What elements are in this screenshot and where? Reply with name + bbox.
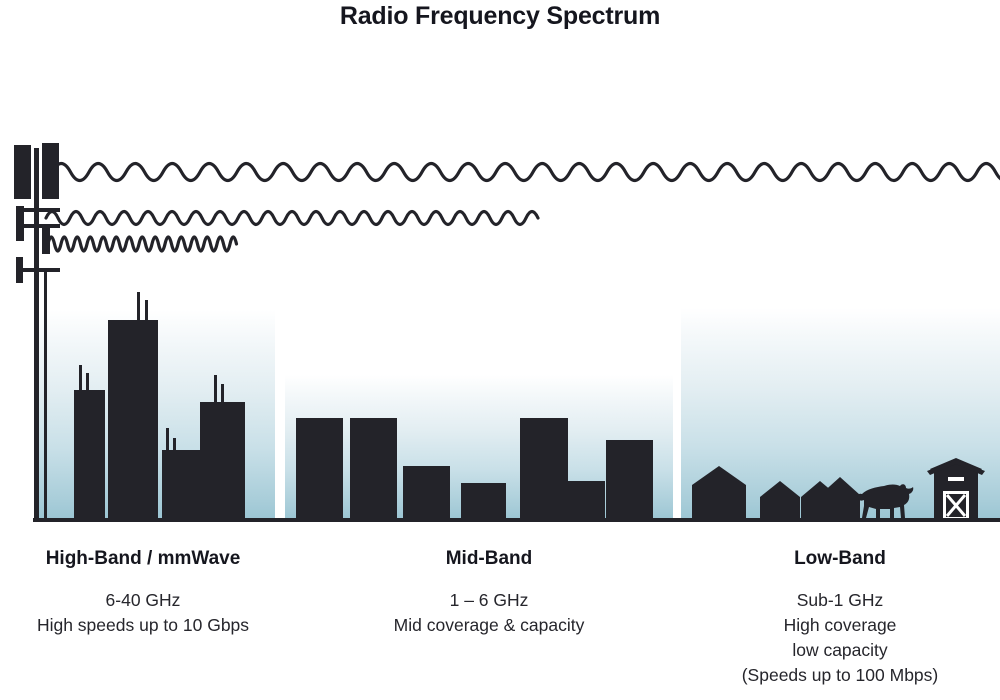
long-wavelength-wave [52, 152, 1000, 194]
low-band-line-3: low capacity [703, 638, 977, 663]
barn-icon [924, 458, 988, 527]
house-4-roof [820, 477, 860, 495]
mid-block-7 [606, 440, 653, 520]
mid-block-6 [568, 481, 605, 520]
low-band-line-4: (Speeds up to 100 Mbps) [703, 663, 977, 688]
tower-b-spire-2 [145, 300, 148, 322]
antenna-panel-left-lower [16, 257, 23, 283]
tower-a-body [74, 390, 105, 520]
mid-band-line-2: Mid coverage & capacity [352, 613, 626, 638]
tower-mast-secondary [44, 268, 47, 520]
house-2-roof [760, 481, 800, 497]
mid-band-heading: Mid-Band [352, 548, 626, 570]
antenna-panel-left-mid [16, 206, 24, 241]
house-1-roof [692, 466, 746, 485]
tower-c-body [162, 450, 200, 520]
caption-mid-band: Mid-Band 1 – 6 GHz Mid coverage & capaci… [352, 548, 626, 638]
house-2-body [760, 497, 800, 520]
tower-c-spire-1 [166, 428, 169, 452]
house-1-body [692, 485, 746, 520]
tower-d-spire-1 [214, 375, 217, 404]
mid-block-5 [520, 418, 568, 520]
antenna-panel-left-upper [14, 145, 31, 199]
low-band-line-1: Sub-1 GHz [703, 588, 977, 613]
mid-block-3 [403, 466, 450, 520]
caption-high-band: High-Band / mmWave 6-40 GHz High speeds … [6, 548, 280, 638]
mid-band-line-1: 1 – 6 GHz [352, 588, 626, 613]
short-wavelength-wave [48, 226, 248, 254]
high-band-line-1: 6-40 GHz [6, 588, 280, 613]
mid-block-2 [350, 418, 397, 520]
mid-block-1 [296, 418, 343, 520]
high-band-line-2: High speeds up to 10 Gbps [6, 613, 280, 638]
tower-crossbar-3 [18, 268, 60, 272]
house-4-body [820, 495, 860, 520]
tower-d-body [200, 402, 245, 520]
high-band-heading: High-Band / mmWave [6, 548, 280, 570]
tower-d-spire-2 [221, 384, 224, 404]
tower-b-body [108, 320, 158, 520]
tower-b-spire-1 [137, 292, 140, 322]
tower-a-spire-1 [79, 365, 82, 392]
tower-mast [34, 148, 39, 520]
ground-line [33, 518, 1000, 522]
page-title: Radio Frequency Spectrum [0, 2, 1000, 31]
mid-block-4 [461, 483, 506, 520]
infographic-canvas: Radio Frequency Spectrum [0, 0, 1000, 700]
low-band-heading: Low-Band [703, 548, 977, 570]
caption-low-band: Low-Band Sub-1 GHz High coverage low cap… [703, 548, 977, 688]
low-band-line-2: High coverage [703, 613, 977, 638]
